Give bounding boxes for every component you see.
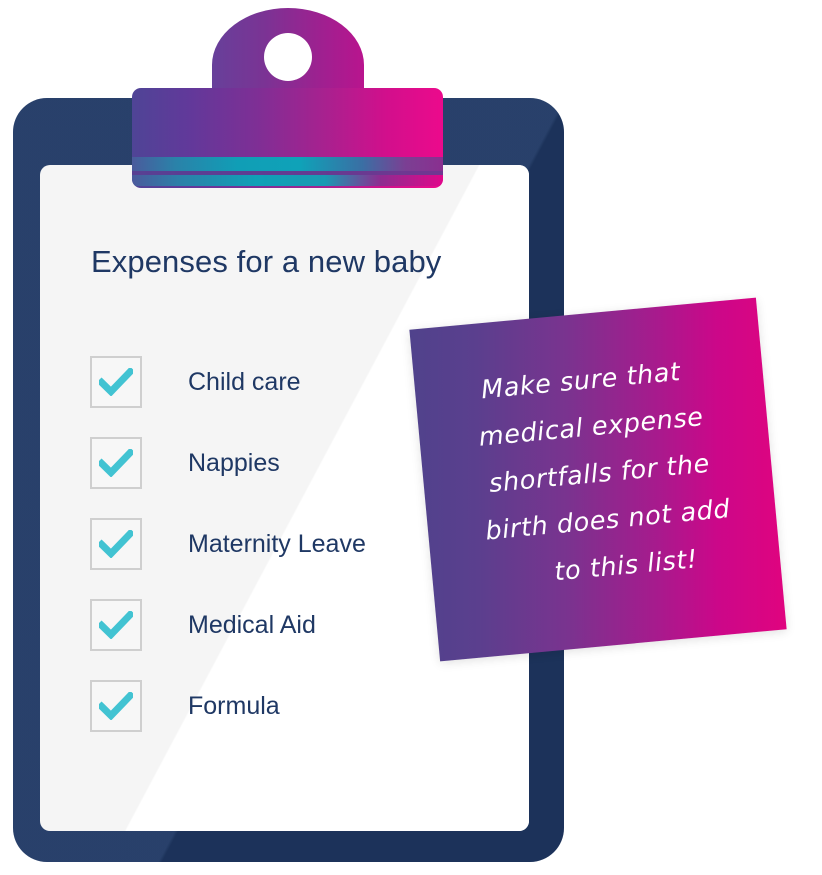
- checkbox-checked-icon[interactable]: [90, 518, 142, 570]
- illustration-scene: Expenses for a new baby Child care: [0, 0, 822, 875]
- checklist-item-label: Child care: [188, 367, 301, 397]
- checkbox-checked-icon[interactable]: [90, 680, 142, 732]
- sticky-note-text: Make sure that medical expense shortfall…: [413, 341, 781, 607]
- checkbox-checked-icon[interactable]: [90, 599, 142, 651]
- checkbox-checked-icon[interactable]: [90, 356, 142, 408]
- checkbox-checked-icon[interactable]: [90, 437, 142, 489]
- checklist-item-label: Maternity Leave: [188, 529, 366, 559]
- checklist-item-label: Formula: [188, 691, 280, 721]
- page-title: Expenses for a new baby: [91, 243, 441, 281]
- checklist-item-label: Nappies: [188, 448, 280, 478]
- checklist-item-formula[interactable]: Formula: [90, 681, 510, 731]
- sticky-note[interactable]: Make sure that medical expense shortfall…: [409, 298, 786, 662]
- checklist-item-label: Medical Aid: [188, 610, 316, 640]
